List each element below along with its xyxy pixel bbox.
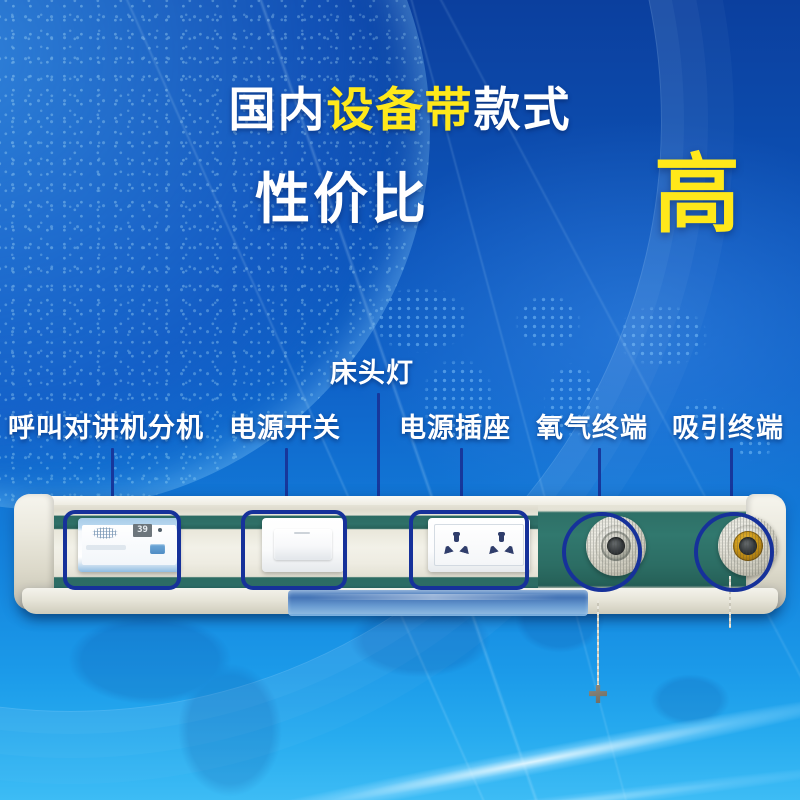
pull-cord-handle[interactable] [589,685,607,703]
highlight-circle-oxygen-terminal [562,512,642,592]
highlight-box-nurse-call-intercom [63,510,181,590]
subheadline-highlight: 高 [654,152,740,238]
product-poster: 国内设备带款式 性价比 高 呼叫对讲机分机 电源开关 床头灯 电源插座 氧气终端… [0,0,800,800]
panel-top-edge [24,496,776,505]
highlight-circle-suction-terminal [694,512,774,592]
headline-part-3: 款式 [474,83,572,136]
callout-label-power-switch: 电源开关 [229,415,341,442]
highlight-box-power-switch [241,510,347,590]
subheadline: 性价比 高 [0,160,800,260]
callout-label-oxygen-terminal: 氧气终端 [536,415,648,442]
headline-part-1: 国内 [229,83,327,136]
callout-label-power-socket: 电源插座 [399,415,511,442]
bed-lamp-gloss [308,594,558,600]
callout-label-bed-lamp: 床头灯 [330,360,414,387]
bed-lamp-pull-cord[interactable] [597,600,599,692]
subheadline-text: 性价比 [255,172,429,227]
callout-label-suction-terminal: 吸引终端 [672,415,784,442]
headline-highlight: 设备带 [327,83,474,136]
headline: 国内设备带款式 [0,86,800,133]
highlight-box-power-socket [409,510,529,590]
callout-label-nurse-call-intercom: 呼叫对讲机分机 [8,415,204,442]
halftone-dot-map [350,250,780,480]
